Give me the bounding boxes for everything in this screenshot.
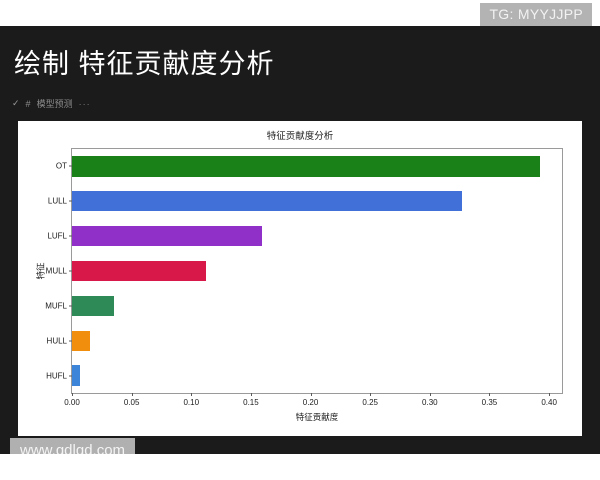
y-tick-label-hull: HULL [47,336,67,345]
y-tick-label-hufl: HUFL [46,371,67,380]
y-tick-label-lufl: LUFL [47,232,67,241]
notebook-cell-label: 模型预测 [37,97,73,110]
x-tick-label: 0.35 [482,398,498,407]
x-tick-label: 0.10 [183,398,199,407]
check-icon: ✓ [12,98,20,109]
x-tick-mark [72,393,73,396]
x-tick-mark [489,393,490,396]
y-tick-mark [69,375,72,376]
x-axis-title: 特征贡献度 [71,411,563,423]
ellipsis-icon: ··· [79,99,91,109]
page-title: 绘制 特征贡献度分析 [14,42,275,81]
y-tick-label-mufl: MUFL [45,301,67,310]
x-tick-label: 0.05 [124,398,140,407]
notebook-panel: 绘制 特征贡献度分析 ✓ # 模型预测 ··· 特征贡献度分析 HUFLHULL… [0,26,600,454]
x-tick-label: 0.15 [243,398,259,407]
x-tick-label: 0.20 [303,398,319,407]
bar-lull [72,191,462,211]
y-tick-label-ot: OT [56,162,67,171]
x-tick-label: 0.25 [362,398,378,407]
x-tick-mark [251,393,252,396]
plot-area: HUFLHULLMUFLMULLLUFLLULLOT0.000.050.100.… [71,148,563,394]
x-tick-mark [549,393,550,396]
bottom-strip [0,454,600,480]
y-tick-mark [69,271,72,272]
y-tick-mark [69,166,72,167]
y-tick-mark [69,305,72,306]
x-tick-mark [191,393,192,396]
chart-card: 特征贡献度分析 HUFLHULLMUFLMULLLUFLLULLOT0.000.… [18,121,582,436]
x-tick-label: 0.30 [422,398,438,407]
x-tick-label: 0.00 [64,398,80,407]
x-tick-mark [370,393,371,396]
bar-hufl [72,365,80,385]
y-axis-title: 特征 [35,262,47,279]
x-tick-label: 0.40 [541,398,557,407]
y-tick-mark [69,236,72,237]
chart-title: 特征贡献度分析 [18,128,582,142]
bar-mull [72,261,206,281]
y-tick-label-lull: LULL [48,197,67,206]
bar-hull [72,331,90,351]
notebook-cell-header[interactable]: ✓ # 模型预测 ··· [12,97,91,110]
x-tick-mark [311,393,312,396]
x-tick-mark [132,393,133,396]
bar-lufl [72,226,262,246]
y-tick-mark [69,340,72,341]
top-strip: TG: MYYJJPP [0,0,600,26]
hash-icon: # [26,99,31,109]
bar-ot [72,156,540,176]
y-tick-label-mull: MULL [46,267,67,276]
bar-mufl [72,296,114,316]
y-tick-mark [69,201,72,202]
x-tick-mark [430,393,431,396]
tg-badge: TG: MYYJJPP [480,3,592,26]
